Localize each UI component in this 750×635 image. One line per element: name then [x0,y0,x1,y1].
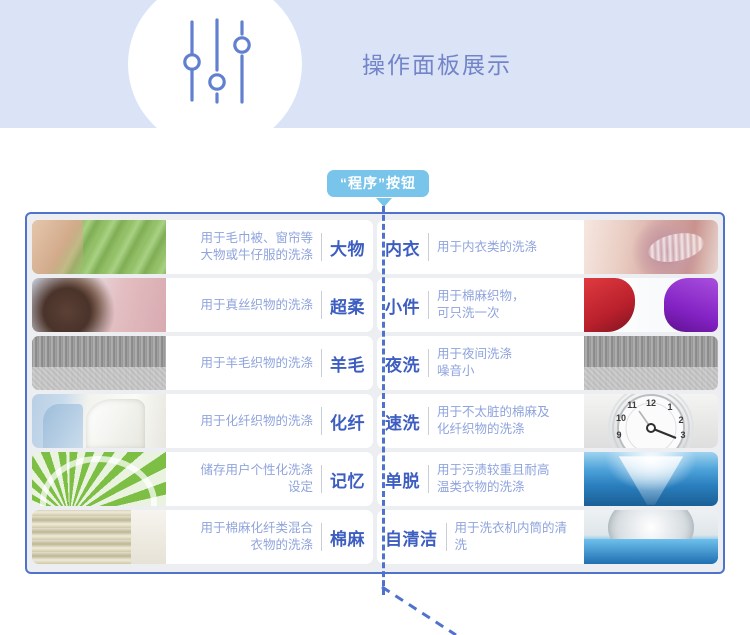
red-purple-fabric-image [584,278,718,332]
program-name: 棉麻 [330,525,365,550]
program-list-right: 内衣 用于内衣类的洗涤 小件 用于棉麻织物， 可只洗一次 夜洗 用于夜间洗涤 噪… [377,220,718,566]
program-card[interactable]: 储存用户个性化洗涤 设定 记忆 [32,452,373,506]
program-card-text: 单脱 用于污渍较重且耐高 温类衣物的洗涤 [377,452,584,506]
program-description: 用于污渍较重且耐高 温类衣物的洗涤 [437,462,550,496]
program-description: 储存用户个性化洗涤 设定 [200,462,313,496]
program-description: 用于羊毛织物的洗涤 [200,355,313,372]
program-name: 超柔 [330,293,365,318]
card-divider [321,233,322,261]
svg-text:3: 3 [680,430,685,440]
program-name: 化纤 [330,409,365,434]
program-card-text: 用于羊毛织物的洗涤 羊毛 [166,336,373,390]
program-card-text: 储存用户个性化洗涤 设定 记忆 [166,452,373,506]
green-circular-pattern-image [32,452,166,506]
sliders-icon [182,18,252,104]
program-description: 用于毛巾被、窗帘等 大物或牛仔服的洗涤 [200,230,313,264]
clock-face-icon: 12 1 2 3 11 10 9 [584,394,718,448]
grey-wool-knit-image [32,336,166,390]
card-divider [446,523,447,551]
alarm-clock-image: 12 1 2 3 11 10 9 [584,394,718,448]
program-name: 单脱 [385,467,420,492]
page-header: 操作面板展示 [0,0,750,128]
woman-silk-image [32,278,166,332]
program-card[interactable]: 夜洗 用于夜间洗涤 噪音小 [377,336,718,390]
program-description: 用于棉麻化纤类混合 衣物的洗涤 [200,520,313,554]
card-divider [321,407,322,435]
program-name: 小件 [385,293,420,318]
program-card[interactable]: 用于化纤织物的洗涤 化纤 [32,394,373,448]
card-divider [428,291,429,319]
program-name: 记忆 [330,467,365,492]
program-card[interactable]: 用于羊毛织物的洗涤 羊毛 [32,336,373,390]
program-description: 用于夜间洗涤 噪音小 [437,346,512,380]
program-name: 夜洗 [385,351,420,376]
program-card-text: 用于棉麻化纤类混合 衣物的洗涤 棉麻 [166,510,373,564]
program-card-text: 内衣 用于内衣类的洗涤 [377,220,584,274]
program-description: 用于真丝织物的洗涤 [200,297,313,314]
card-divider [428,407,429,435]
program-name: 自清洁 [385,525,438,550]
program-name: 羊毛 [330,351,365,376]
washer-drum-water-image [584,510,718,564]
grey-knit-fabric-image [584,336,718,390]
program-card-text: 夜洗 用于夜间洗涤 噪音小 [377,336,584,390]
program-description: 用于棉麻织物， 可只洗一次 [437,288,525,322]
svg-text:1: 1 [667,402,672,412]
card-divider [321,291,322,319]
program-button-callout: “程序”按钮 [327,170,429,197]
page-title: 操作面板展示 [362,46,512,80]
lingerie-image [584,220,718,274]
program-card-text: 用于真丝织物的洗涤 超柔 [166,278,373,332]
green-towels-image [32,220,166,274]
dress-shirts-image [32,394,166,448]
program-description: 用于化纤织物的洗涤 [200,413,313,430]
folded-linen-stack-image [32,510,166,564]
program-description: 用于洗衣机内筒的清 洗 [455,520,568,554]
program-card[interactable]: 用于棉麻化纤类混合 衣物的洗涤 棉麻 [32,510,373,564]
svg-text:12: 12 [646,398,656,408]
program-name: 速洗 [385,409,420,434]
program-card[interactable]: 小件 用于棉麻织物， 可只洗一次 [377,278,718,332]
program-card[interactable]: 自清洁 用于洗衣机内筒的清 洗 [377,510,718,564]
wash-program-panel: 用于毛巾被、窗帘等 大物或牛仔服的洗涤 大物 用于真丝织物的洗涤 超柔 用于羊毛… [25,212,725,574]
program-card[interactable]: 速洗 用于不太脏的棉麻及 化纤织物的洗涤 12 1 2 3 11 10 9 [377,394,718,448]
program-card[interactable]: 用于真丝织物的洗涤 超柔 [32,278,373,332]
svg-text:9: 9 [616,430,621,440]
connector-vertical-dashed-line [382,206,385,595]
program-card-text: 用于毛巾被、窗帘等 大物或牛仔服的洗涤 大物 [166,220,373,274]
svg-text:10: 10 [616,413,626,423]
program-card-text: 自清洁 用于洗衣机内筒的清 洗 [377,510,584,564]
card-divider [428,465,429,493]
svg-text:2: 2 [678,415,683,425]
water-swirl-image [584,452,718,506]
program-card[interactable]: 单脱 用于污渍较重且耐高 温类衣物的洗涤 [377,452,718,506]
connector-diagonal-dashed-line [370,585,480,635]
program-card-text: 速洗 用于不太脏的棉麻及 化纤织物的洗涤 [377,394,584,448]
program-card[interactable]: 用于毛巾被、窗帘等 大物或牛仔服的洗涤 大物 [32,220,373,274]
program-description: 用于不太脏的棉麻及 化纤织物的洗涤 [437,404,550,438]
card-divider [321,349,322,377]
card-divider [321,465,322,493]
card-divider [428,349,429,377]
program-name: 内衣 [385,235,420,260]
program-card-text: 用于化纤织物的洗涤 化纤 [166,394,373,448]
card-divider [428,233,429,261]
program-card[interactable]: 内衣 用于内衣类的洗涤 [377,220,718,274]
program-description: 用于内衣类的洗涤 [437,239,537,256]
svg-text:11: 11 [627,400,637,410]
program-list-left: 用于毛巾被、窗帘等 大物或牛仔服的洗涤 大物 用于真丝织物的洗涤 超柔 用于羊毛… [32,220,373,566]
card-divider [321,523,322,551]
program-name: 大物 [330,235,365,260]
program-card-text: 小件 用于棉麻织物， 可只洗一次 [377,278,584,332]
